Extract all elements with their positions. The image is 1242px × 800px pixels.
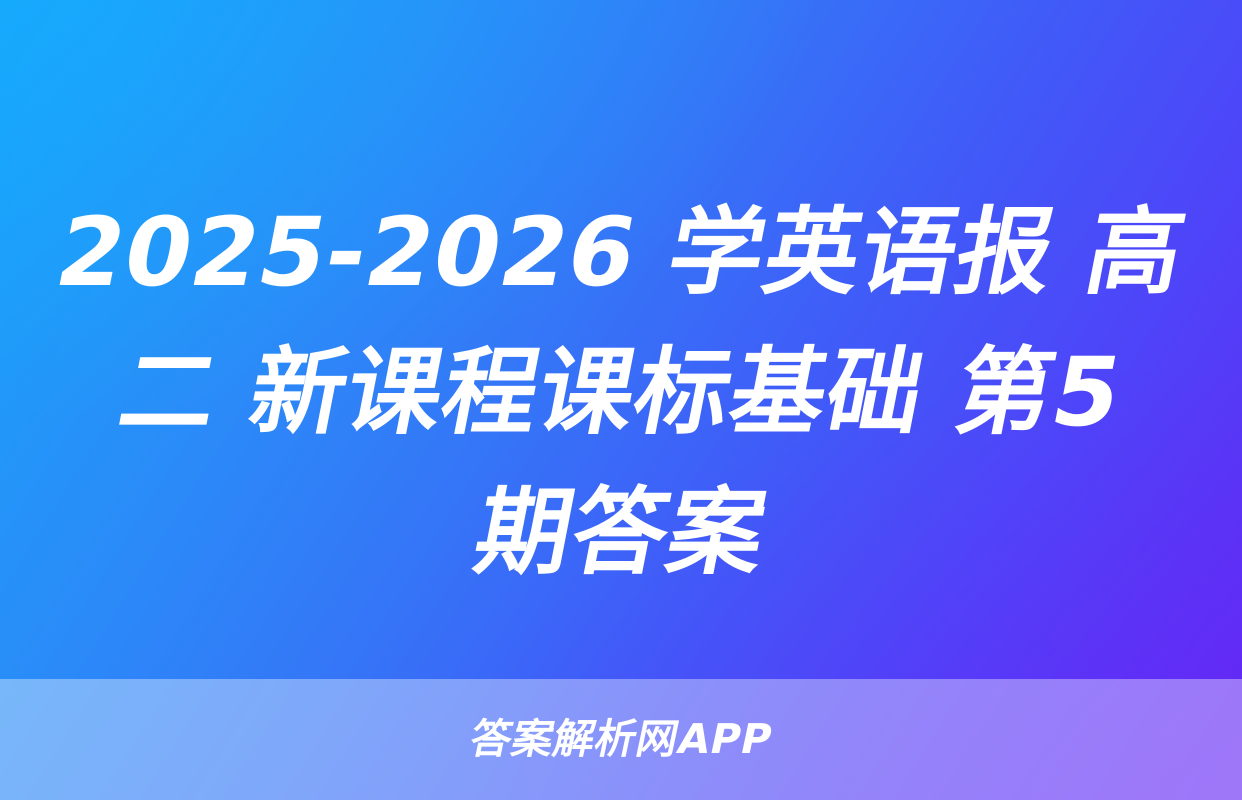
poster-canvas: 2025-2026 学英语报 高 二 新课程课标基础 第5 期答案 答案解析网A… [0, 0, 1242, 800]
page-title: 2025-2026 学英语报 高 二 新课程课标基础 第5 期答案 [0, 183, 1242, 603]
page-title-line-3: 期答案 [44, 463, 1197, 603]
page-title-line-2: 二 新课程课标基础 第5 [44, 323, 1197, 463]
footer-brand-band: 答案解析网APP [0, 679, 1242, 800]
footer-brand-label: 答案解析网APP [466, 716, 777, 762]
page-title-line-1: 2025-2026 学英语报 高 [44, 183, 1197, 323]
